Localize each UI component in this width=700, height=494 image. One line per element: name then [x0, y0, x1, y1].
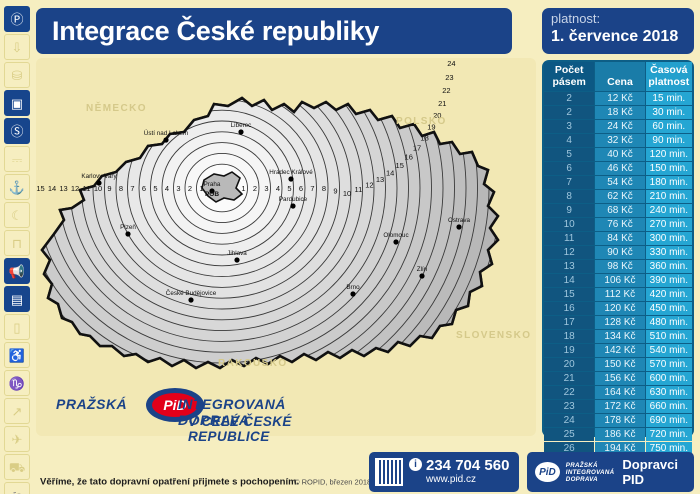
validity-label: platnost:: [551, 11, 694, 27]
zone-number: 4: [165, 184, 169, 193]
zone-number: 9: [107, 184, 111, 193]
cell-time: 150 min.: [646, 162, 692, 175]
zone-map[interactable]: 1716151413121110987654321123456789101112…: [36, 58, 536, 436]
pid-logo-icon: PiD: [535, 462, 560, 482]
zone-number: 8: [119, 184, 123, 193]
cell-price: 12 Kč: [595, 92, 644, 105]
zone-rings: [36, 58, 536, 436]
cell-time: 570 min.: [646, 358, 692, 371]
phone-number[interactable]: 234 704 560: [426, 458, 509, 474]
cell-zones: 16: [544, 302, 594, 315]
zone-number: 5: [153, 184, 157, 193]
cell-price: 32 Kč: [595, 134, 644, 147]
cell-zones: 12: [544, 246, 594, 259]
city-label: Jihlava: [227, 250, 247, 257]
city-label: Praha: [204, 181, 221, 188]
website-url[interactable]: www.pid.cz: [426, 474, 509, 486]
city-label: Olomouc: [383, 232, 408, 239]
cell-time: 600 min.: [646, 372, 692, 385]
cell-time: 330 min.: [646, 246, 692, 259]
escalator-icon[interactable]: ↗: [4, 398, 30, 424]
cell-time: 180 min.: [646, 176, 692, 189]
cell-time: 270 min.: [646, 218, 692, 231]
cell-price: 76 Kč: [595, 218, 644, 231]
country-label: SLOVENSKO: [456, 330, 531, 341]
city-label: Hradec Králové: [269, 169, 313, 176]
cell-price: 120 Kč: [595, 302, 644, 315]
cell-time: 720 min.: [646, 428, 692, 441]
city-label: Pardubice: [279, 196, 308, 203]
city-label: Brno: [346, 284, 360, 291]
table-row: 17128 Kč480 min.: [544, 316, 692, 329]
zone-number: 8: [322, 184, 326, 193]
cell-price: 156 Kč: [595, 372, 644, 385]
table-row: 540 Kč120 min.: [544, 148, 692, 161]
city-dot: [188, 297, 193, 302]
city-dot: [234, 257, 239, 262]
cell-time: 630 min.: [646, 386, 692, 399]
cell-time: 360 min.: [646, 260, 692, 273]
city-dot: [238, 129, 243, 134]
logo-line-1: PRAŽSKÁ: [56, 396, 127, 412]
mobile-app-icon[interactable]: ▯: [4, 314, 30, 340]
city-dot: [350, 291, 355, 296]
cell-zones: 5: [544, 148, 594, 161]
zone-number: 12: [365, 181, 373, 190]
cell-zones: 8: [544, 190, 594, 203]
zone-number: 14: [48, 184, 56, 193]
cell-zones: 11: [544, 232, 594, 245]
zone-number: 13: [376, 175, 384, 184]
city-label: Ostrava: [448, 217, 471, 224]
cell-time: 210 min.: [646, 190, 692, 203]
cell-zones: 7: [544, 176, 594, 189]
pid-logo-icon[interactable]: Ⓟ: [4, 6, 30, 32]
carriers-panel[interactable]: PiD PRAŽSKÁ INTEGROVANÁ DOPRAVA Dopravci…: [527, 452, 694, 492]
metro-s-icon[interactable]: Ⓢ: [4, 118, 30, 144]
table-row: 21156 Kč600 min.: [544, 372, 692, 385]
pid-subtitle-2: INTEGROVANÁ: [566, 469, 615, 476]
wheelchair-icon[interactable]: ♿: [4, 342, 30, 368]
table-row: 324 Kč60 min.: [544, 120, 692, 133]
country-label: RAKOUSKO: [218, 358, 288, 369]
zone-number: 11: [354, 185, 362, 194]
city-label: POB: [205, 191, 219, 198]
country-label: POLSKO: [396, 116, 447, 127]
cell-time: 690 min.: [646, 414, 692, 427]
cell-price: 62 Kč: [595, 190, 644, 203]
table-row: 754 Kč180 min.: [544, 176, 692, 189]
cell-zones: 18: [544, 330, 594, 343]
city-label: Plzeň: [120, 224, 136, 231]
cell-price: 54 Kč: [595, 176, 644, 189]
zone-number: 15: [396, 161, 404, 170]
table-row: 1076 Kč270 min.: [544, 218, 692, 231]
cell-price: 150 Kč: [595, 358, 644, 371]
copyright-text: © ROPID, březen 2018: [294, 478, 371, 487]
zone-number: 2: [253, 184, 257, 193]
fare-table[interactable]: Početpásem Cena Časováplatnost 212 Kč15 …: [542, 60, 694, 437]
table-row: 24178 Kč690 min.: [544, 414, 692, 427]
cell-zones: 25: [544, 428, 594, 441]
cell-zones: 23: [544, 400, 594, 413]
cell-zones: 24: [544, 414, 594, 427]
cell-zones: 6: [544, 162, 594, 175]
cell-time: 390 min.: [646, 274, 692, 287]
cell-price: 164 Kč: [595, 386, 644, 399]
funicular-icon[interactable]: ⊓: [4, 230, 30, 256]
col-header-time: Časováplatnost: [646, 62, 692, 91]
zone-number: 5: [287, 184, 291, 193]
cell-price: 128 Kč: [595, 316, 644, 329]
ticket-card-icon[interactable]: ▤: [4, 286, 30, 312]
bookmark-icon[interactable]: ▣: [4, 90, 30, 116]
table-row: 432 Kč90 min.: [544, 134, 692, 147]
cell-zones: 21: [544, 372, 594, 385]
cell-time: 540 min.: [646, 344, 692, 357]
table-row: 15112 Kč420 min.: [544, 288, 692, 301]
cell-time: 240 min.: [646, 204, 692, 217]
table-row: 22164 Kč630 min.: [544, 386, 692, 399]
table-row: 212 Kč15 min.: [544, 92, 692, 105]
cell-price: 90 Kč: [595, 246, 644, 259]
cell-zones: 2: [544, 106, 594, 119]
cell-time: 15 min.: [646, 92, 692, 105]
cell-price: 178 Kč: [595, 414, 644, 427]
city-label: Karlovy Vary: [81, 173, 117, 180]
cell-time: 510 min.: [646, 330, 692, 343]
zone-number: 1: [241, 184, 245, 193]
table-row: 25186 Kč720 min.: [544, 428, 692, 441]
cell-zones: 2: [544, 92, 594, 105]
cell-price: 46 Kč: [595, 162, 644, 175]
zone-number: 15: [36, 184, 44, 193]
city-dot: [393, 239, 398, 244]
cell-price: 98 Kč: [595, 260, 644, 273]
cell-zones: 22: [544, 386, 594, 399]
zone-number: 6: [142, 184, 146, 193]
pid-subtitle-3: DOPRAVA: [566, 476, 615, 483]
qr-code-icon[interactable]: [375, 458, 403, 486]
zone-number: 6: [299, 184, 303, 193]
cell-time: 60 min.: [646, 120, 692, 133]
stroller-icon[interactable]: ⛟: [4, 454, 30, 480]
cell-price: 24 Kč: [595, 120, 644, 133]
cell-zones: 9: [544, 204, 594, 217]
contact-panel[interactable]: i 234 704 560 www.pid.cz: [369, 452, 519, 492]
zone-number: 2: [188, 184, 192, 193]
cell-zones: 15: [544, 288, 594, 301]
zone-number: 13: [59, 184, 67, 193]
cell-price: 40 Kč: [595, 148, 644, 161]
pid-subtitle-1: PRAŽSKÁ: [566, 462, 615, 469]
country-label: NĚMECKO: [86, 103, 147, 114]
city-dot: [419, 273, 424, 278]
cell-price: 186 Kč: [595, 428, 644, 441]
zone-number: 16: [405, 153, 413, 162]
col-header-price: Cena: [595, 62, 644, 91]
table-row: 18134 Kč510 min.: [544, 330, 692, 343]
table-row: 19142 Kč540 min.: [544, 344, 692, 357]
zone-number: 10: [343, 189, 351, 198]
zone-number: 7: [130, 184, 134, 193]
table-row: 968 Kč240 min.: [544, 204, 692, 217]
cell-zones: 19: [544, 344, 594, 357]
cell-zones: 14: [544, 274, 594, 287]
zone-number: 11: [83, 184, 91, 193]
cell-zones: 20: [544, 358, 594, 371]
cell-price: 84 Kč: [595, 232, 644, 245]
zone-number: 3: [264, 184, 268, 193]
cell-price: 112 Kč: [595, 288, 644, 301]
city-label: Liberec: [231, 122, 252, 129]
city-dot: [288, 176, 293, 181]
anchor-icon[interactable]: ⚓: [4, 174, 30, 200]
family-icon[interactable]: ♑: [4, 370, 30, 396]
zone-number: 3: [176, 184, 180, 193]
zone-number: 21: [438, 99, 446, 108]
zone-number: 18: [420, 133, 428, 142]
table-header-row: Početpásem Cena Časováplatnost: [544, 62, 692, 91]
zone-number: 12: [71, 184, 79, 193]
city-dot: [163, 137, 168, 142]
cell-time: 480 min.: [646, 316, 692, 329]
table-row: 23172 Kč660 min.: [544, 400, 692, 413]
cell-price: 106 Kč: [595, 274, 644, 287]
pid-brand-logo: PRAŽSKÁ PiD INTEGROVANÁ DOPRAVA V CELÉ Č…: [46, 385, 346, 433]
table-row: 862 Kč210 min.: [544, 190, 692, 203]
table-row: 14106 Kč390 min.: [544, 274, 692, 287]
footer-message: Věříme, že tato dopravní opatření přijme…: [40, 477, 299, 488]
table-row: 218 Kč30 min.: [544, 106, 692, 119]
poster-root: Ⓟ⇩⛁▣Ⓢ⎓⚓☾⊓📢▤▯♿♑↗✈⛟🚲☸⫽ Integrace České rep…: [0, 0, 700, 494]
zone-number: 23: [445, 73, 453, 82]
logo-line-3: V CELÉ ČESKÉ REPUBLICE: [188, 414, 346, 444]
table-row: 1398 Kč360 min.: [544, 260, 692, 273]
map-svg: 1716151413121110987654321123456789101112…: [36, 58, 536, 436]
cell-time: 660 min.: [646, 400, 692, 413]
info-icon: i: [409, 458, 422, 471]
cell-price: 142 Kč: [595, 344, 644, 357]
col-header-zones: Početpásem: [544, 62, 594, 91]
cell-time: 420 min.: [646, 288, 692, 301]
zone-number: 17: [413, 143, 421, 152]
night-moon-icon[interactable]: ☾: [4, 202, 30, 228]
cell-time: 30 min.: [646, 106, 692, 119]
cell-time: 120 min.: [646, 148, 692, 161]
icon-rail: Ⓟ⇩⛁▣Ⓢ⎓⚓☾⊓📢▤▯♿♑↗✈⛟🚲☸⫽: [0, 0, 34, 494]
zone-number: 9: [333, 186, 337, 195]
cell-zones: 3: [544, 120, 594, 133]
cell-price: 18 Kč: [595, 106, 644, 119]
table-row: 646 Kč150 min.: [544, 162, 692, 175]
announcement-icon[interactable]: 📢: [4, 258, 30, 284]
validity-value: 1. července 2018: [551, 27, 694, 47]
cell-time: 90 min.: [646, 134, 692, 147]
title-bar: Integrace České republiky: [36, 8, 512, 54]
cell-zones: 4: [544, 134, 594, 147]
cell-price: 172 Kč: [595, 400, 644, 413]
ticket-machine-icon[interactable]: ⛁: [4, 62, 30, 88]
validity-box: platnost: 1. července 2018: [542, 8, 694, 54]
cell-zones: 13: [544, 260, 594, 273]
city-label: Zlín: [417, 266, 428, 273]
cell-time: 450 min.: [646, 302, 692, 315]
city-label: České Budějovice: [166, 288, 217, 297]
page-title: Integrace České republiky: [52, 16, 379, 47]
table-row: 1184 Kč300 min.: [544, 232, 692, 245]
train-icon[interactable]: ⎓: [4, 146, 30, 172]
airport-icon[interactable]: ✈: [4, 426, 30, 452]
cell-price: 134 Kč: [595, 330, 644, 343]
city-dot: [456, 224, 461, 229]
city-dot: [125, 231, 130, 236]
city-label: Ústí nad Labem: [144, 128, 188, 137]
zone-number: 24: [447, 59, 455, 68]
table-body: 212 Kč15 min.218 Kč30 min.324 Kč60 min.4…: [544, 92, 692, 469]
zone-number: 14: [386, 168, 394, 177]
cell-zones: 17: [544, 316, 594, 329]
cell-zones: 10: [544, 218, 594, 231]
pid-subtitle: PRAŽSKÁ INTEGROVANÁ DOPRAVA: [566, 462, 615, 483]
cell-price: 68 Kč: [595, 204, 644, 217]
zone-number: 7: [310, 184, 314, 193]
table-row: 20150 Kč570 min.: [544, 358, 692, 371]
cell-time: 300 min.: [646, 232, 692, 245]
carriers-label: Dopravci PID: [622, 457, 694, 487]
table-row: 1290 Kč330 min.: [544, 246, 692, 259]
table-row: 16120 Kč450 min.: [544, 302, 692, 315]
download-arrow-icon[interactable]: ⇩: [4, 34, 30, 60]
city-dot: [290, 203, 295, 208]
zone-number: 22: [442, 86, 450, 95]
zone-number: 4: [276, 184, 280, 193]
bicycle-icon[interactable]: 🚲: [4, 482, 30, 494]
city-dot: [96, 180, 101, 185]
